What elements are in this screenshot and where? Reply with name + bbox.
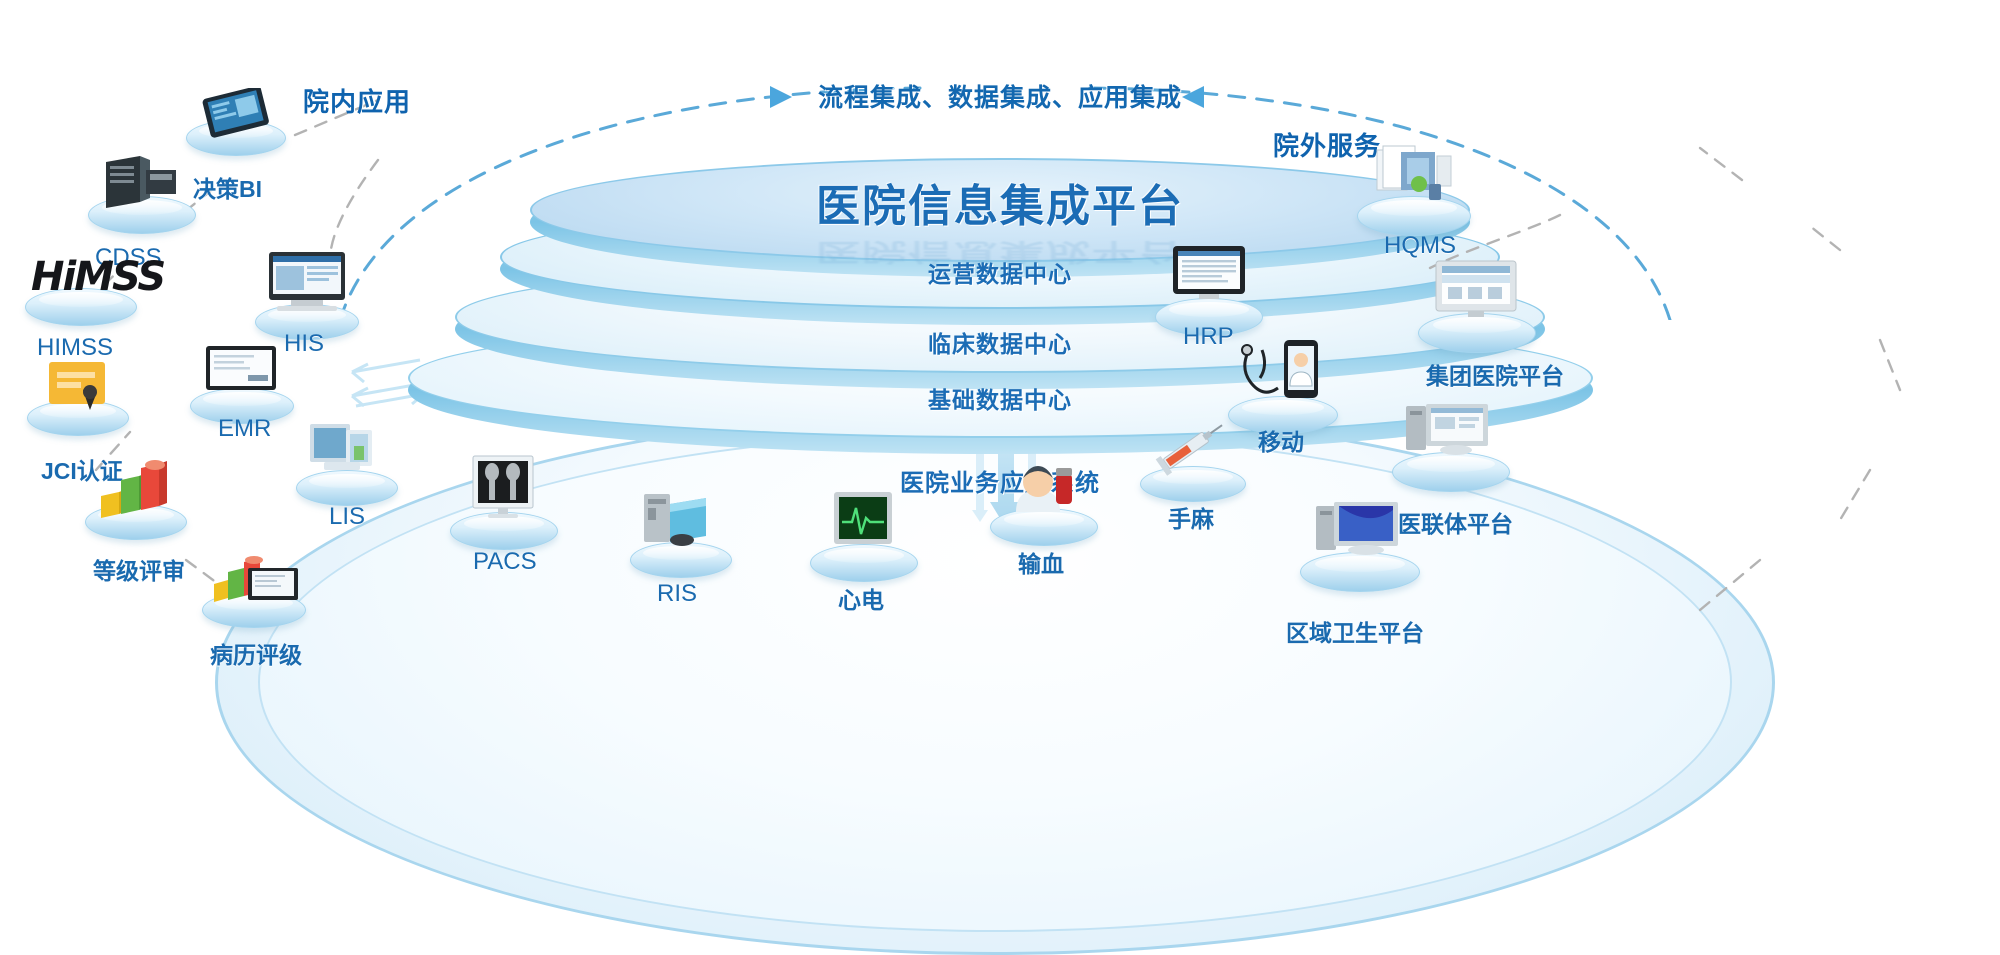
bar-blocks-icon bbox=[85, 456, 185, 518]
node-label-mobile: 移动 bbox=[1258, 423, 1304, 457]
pc-tower-icon bbox=[1392, 398, 1508, 460]
node-label-regional-health-platform: 区域卫生平台 bbox=[1286, 614, 1424, 648]
laptop-icon bbox=[190, 344, 292, 396]
tablet-icon bbox=[186, 88, 284, 138]
integration-flow-label: 流程集成、数据集成、应用集成 bbox=[700, 78, 1300, 114]
desktop-icon bbox=[255, 250, 357, 314]
himss-logo-icon: HiMSS bbox=[31, 254, 164, 300]
node-label-emr: EMR bbox=[218, 415, 271, 443]
node-label-anesthesia: 手麻 bbox=[1168, 500, 1214, 534]
node-label-pacs: PACS bbox=[473, 548, 537, 576]
layer-label-clinical-data-center: 临床数据中心 bbox=[480, 325, 1520, 359]
node-label-ris: RIS bbox=[657, 580, 697, 608]
syringe-icon bbox=[1140, 414, 1244, 476]
blue-monitor-icon bbox=[1300, 498, 1418, 560]
server-icon bbox=[88, 154, 194, 214]
layer-label-operational-data-center: 运营数据中心 bbox=[530, 255, 1470, 289]
workstation-icon bbox=[630, 490, 730, 552]
node-label-ecg: 心电 bbox=[838, 581, 884, 615]
laptop-chart-icon bbox=[202, 550, 304, 606]
node-label-hqms: HQMS bbox=[1384, 232, 1456, 260]
platform-title: 医院信息集成平台 bbox=[530, 170, 1470, 234]
xray-icon bbox=[450, 454, 556, 520]
diagram-canvas: 医院信息集成平台 医院信息集成平台 运营数据中心 临床数据中心 基础数据中心 医… bbox=[0, 0, 2000, 955]
node-label-group-hospital-platform: 集团医院平台 bbox=[1426, 357, 1564, 391]
node-label-lis: LIS bbox=[329, 503, 365, 531]
node-label-hrp: HRP bbox=[1183, 323, 1234, 351]
desktop-icon bbox=[1155, 244, 1261, 306]
section-label-internal-applications: 院内应用 bbox=[303, 82, 411, 119]
monitor-ecg-icon bbox=[810, 490, 916, 552]
certificate-icon bbox=[27, 358, 127, 416]
crt-monitor-icon bbox=[1418, 259, 1534, 321]
node-label-blood-transfusion: 输血 bbox=[1018, 545, 1064, 579]
node-label-decision-bi: 决策BI bbox=[193, 170, 262, 204]
transfusion-icon bbox=[990, 460, 1096, 518]
phone-steth-icon bbox=[1228, 334, 1336, 406]
lab-icon bbox=[296, 420, 396, 482]
folder-docs-icon bbox=[1357, 144, 1469, 206]
node-label-grade-review: 等级评审 bbox=[93, 552, 185, 586]
node-label-medical-record-rating: 病历评级 bbox=[210, 636, 302, 670]
